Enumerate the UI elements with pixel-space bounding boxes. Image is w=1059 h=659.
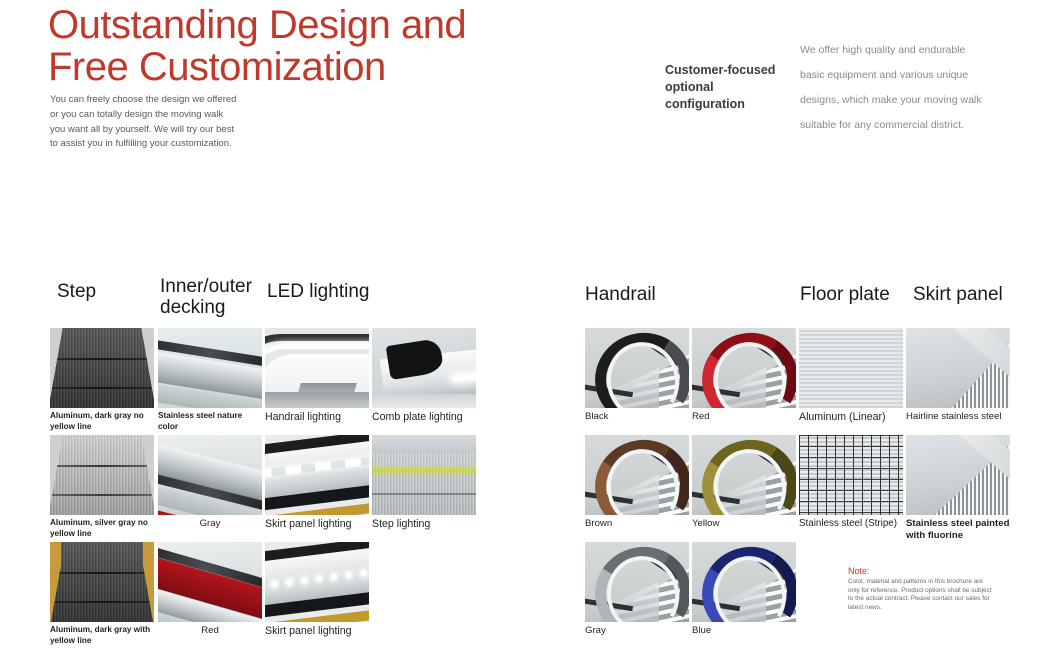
skirt-panel-item-hairline[interactable]: Hairline stainless steel [906,328,1010,423]
heading-decking: Inner/outer decking [160,276,268,318]
led-thumbnail-step-lighting [372,435,476,515]
handrail-thumbnail-yellow [692,435,796,515]
handrail-thumbnail-blue [692,542,796,622]
heading-skirt-panel: Skirt panel [913,284,1033,305]
handrail-thumbnail-red [692,328,796,408]
floor-plate-thumbnail-aluminum-linear [799,328,903,408]
hero-line: you want all by yourself. We will try ou… [50,123,275,138]
led-caption: Skirt panel lighting [265,515,369,530]
hero-line: to assist you in fulfilling your customi… [50,137,275,152]
handrail-caption: Brown [585,515,689,530]
note-line: Color, material and patterns in this bro… [848,578,1026,587]
handrail-thumbnail-brown [585,435,689,515]
handrail-caption: Yellow [692,515,796,530]
handrail-caption: Blue [692,622,796,637]
led-thumbnail-skirt-panel-lighting [265,435,369,515]
led-item-1[interactable]: Skirt panel lighting [265,435,369,530]
decking-caption: Gray [158,515,262,530]
led-caption: Handrail lighting [265,408,369,423]
note-line: to the actual contract. Please contact o… [848,595,1026,604]
step-thumbnail-dark-gray [50,328,154,408]
hero-description: You can freely choose the design we offe… [50,93,275,152]
floor-plate-item-stripe[interactable]: Stainless steel (Stripe) [799,435,903,530]
configuration-heading: Customer-focused optional configuration [665,62,785,113]
handrail-item-brown[interactable]: Brown [585,435,689,530]
floor-plate-caption: Stainless steel (Stripe) [799,515,903,530]
handrail-item-gray[interactable]: Gray [585,542,689,637]
led-caption: Comb plate lighting [372,408,476,423]
led-caption: Step lighting [372,515,476,530]
decking-item-0[interactable]: Stainless steel nature color [158,328,262,432]
decking-item-2[interactable]: Red [158,542,262,637]
floor-plate-thumbnail-stainless-stripe [799,435,903,515]
led-thumbnail-skirt-panel-lighting-dots [265,542,369,622]
hero-line: You can freely choose the design we offe… [50,93,275,108]
heading-handrail: Handrail [585,284,725,305]
floor-plate-item-linear[interactable]: Aluminum (Linear) [799,328,903,423]
heading-step: Step [57,281,157,302]
decking-caption: Stainless steel nature color [158,408,262,432]
note-body: Color, material and patterns in this bro… [848,578,1026,612]
led-item-0[interactable]: Handrail lighting [265,328,369,423]
handrail-caption: Black [585,408,689,423]
led-item-3[interactable]: Comb plate lighting [372,328,476,423]
step-caption: Aluminum, silver gray no yellow line [50,515,154,539]
note-block: Note: Color, material and patterns in th… [848,566,1026,612]
hero-line: or you can totally design the moving wal… [50,108,275,123]
skirt-panel-caption: Stainless steel painted with fluorine [906,515,1010,541]
handrail-caption: Gray [585,622,689,637]
led-thumbnail-handrail-lighting [265,328,369,408]
handrail-item-blue[interactable]: Blue [692,542,796,637]
page-title: Outstanding Design and Free Customizatio… [48,4,478,88]
step-caption: Aluminum, dark gray no yellow line [50,408,154,432]
decking-thumbnail-gray [158,435,262,515]
note-line: only for reference. Product options shal… [848,587,1026,596]
skirt-panel-caption: Hairline stainless steel [906,408,1010,423]
decking-caption: Red [158,622,262,637]
handrail-thumbnail-gray [585,542,689,622]
led-caption: Skirt panel lighting [265,622,369,637]
heading-floor-plate: Floor plate [800,284,920,305]
step-thumbnail-dark-gray-yellow [50,542,154,622]
step-item-0[interactable]: Aluminum, dark gray no yellow line [50,328,154,432]
handrail-item-yellow[interactable]: Yellow [692,435,796,530]
decking-thumbnail-red [158,542,262,622]
led-item-2[interactable]: Skirt panel lighting [265,542,369,637]
note-title: Note: [848,566,1026,576]
skirt-panel-thumbnail-stainless-fluorine [906,435,1010,515]
floor-plate-caption: Aluminum (Linear) [799,408,903,423]
led-item-4[interactable]: Step lighting [372,435,476,530]
decking-thumbnail-stainless [158,328,262,408]
decking-item-1[interactable]: Gray [158,435,262,530]
configuration-description: We offer high quality and endurable basi… [800,38,990,138]
step-item-2[interactable]: Aluminum, dark gray with yellow line [50,542,154,646]
handrail-thumbnail-black [585,328,689,408]
step-item-1[interactable]: Aluminum, silver gray no yellow line [50,435,154,539]
heading-led: LED lighting [267,281,397,302]
led-thumbnail-comb-plate-lighting [372,328,476,408]
step-caption: Aluminum, dark gray with yellow line [50,622,154,646]
handrail-item-red[interactable]: Red [692,328,796,423]
note-line: latest news. [848,604,1026,613]
skirt-panel-thumbnail-hairline-stainless [906,328,1010,408]
step-thumbnail-silver-gray [50,435,154,515]
handrail-item-black[interactable]: Black [585,328,689,423]
skirt-panel-item-fluorine[interactable]: Stainless steel painted with fluorine [906,435,1010,541]
handrail-caption: Red [692,408,796,423]
